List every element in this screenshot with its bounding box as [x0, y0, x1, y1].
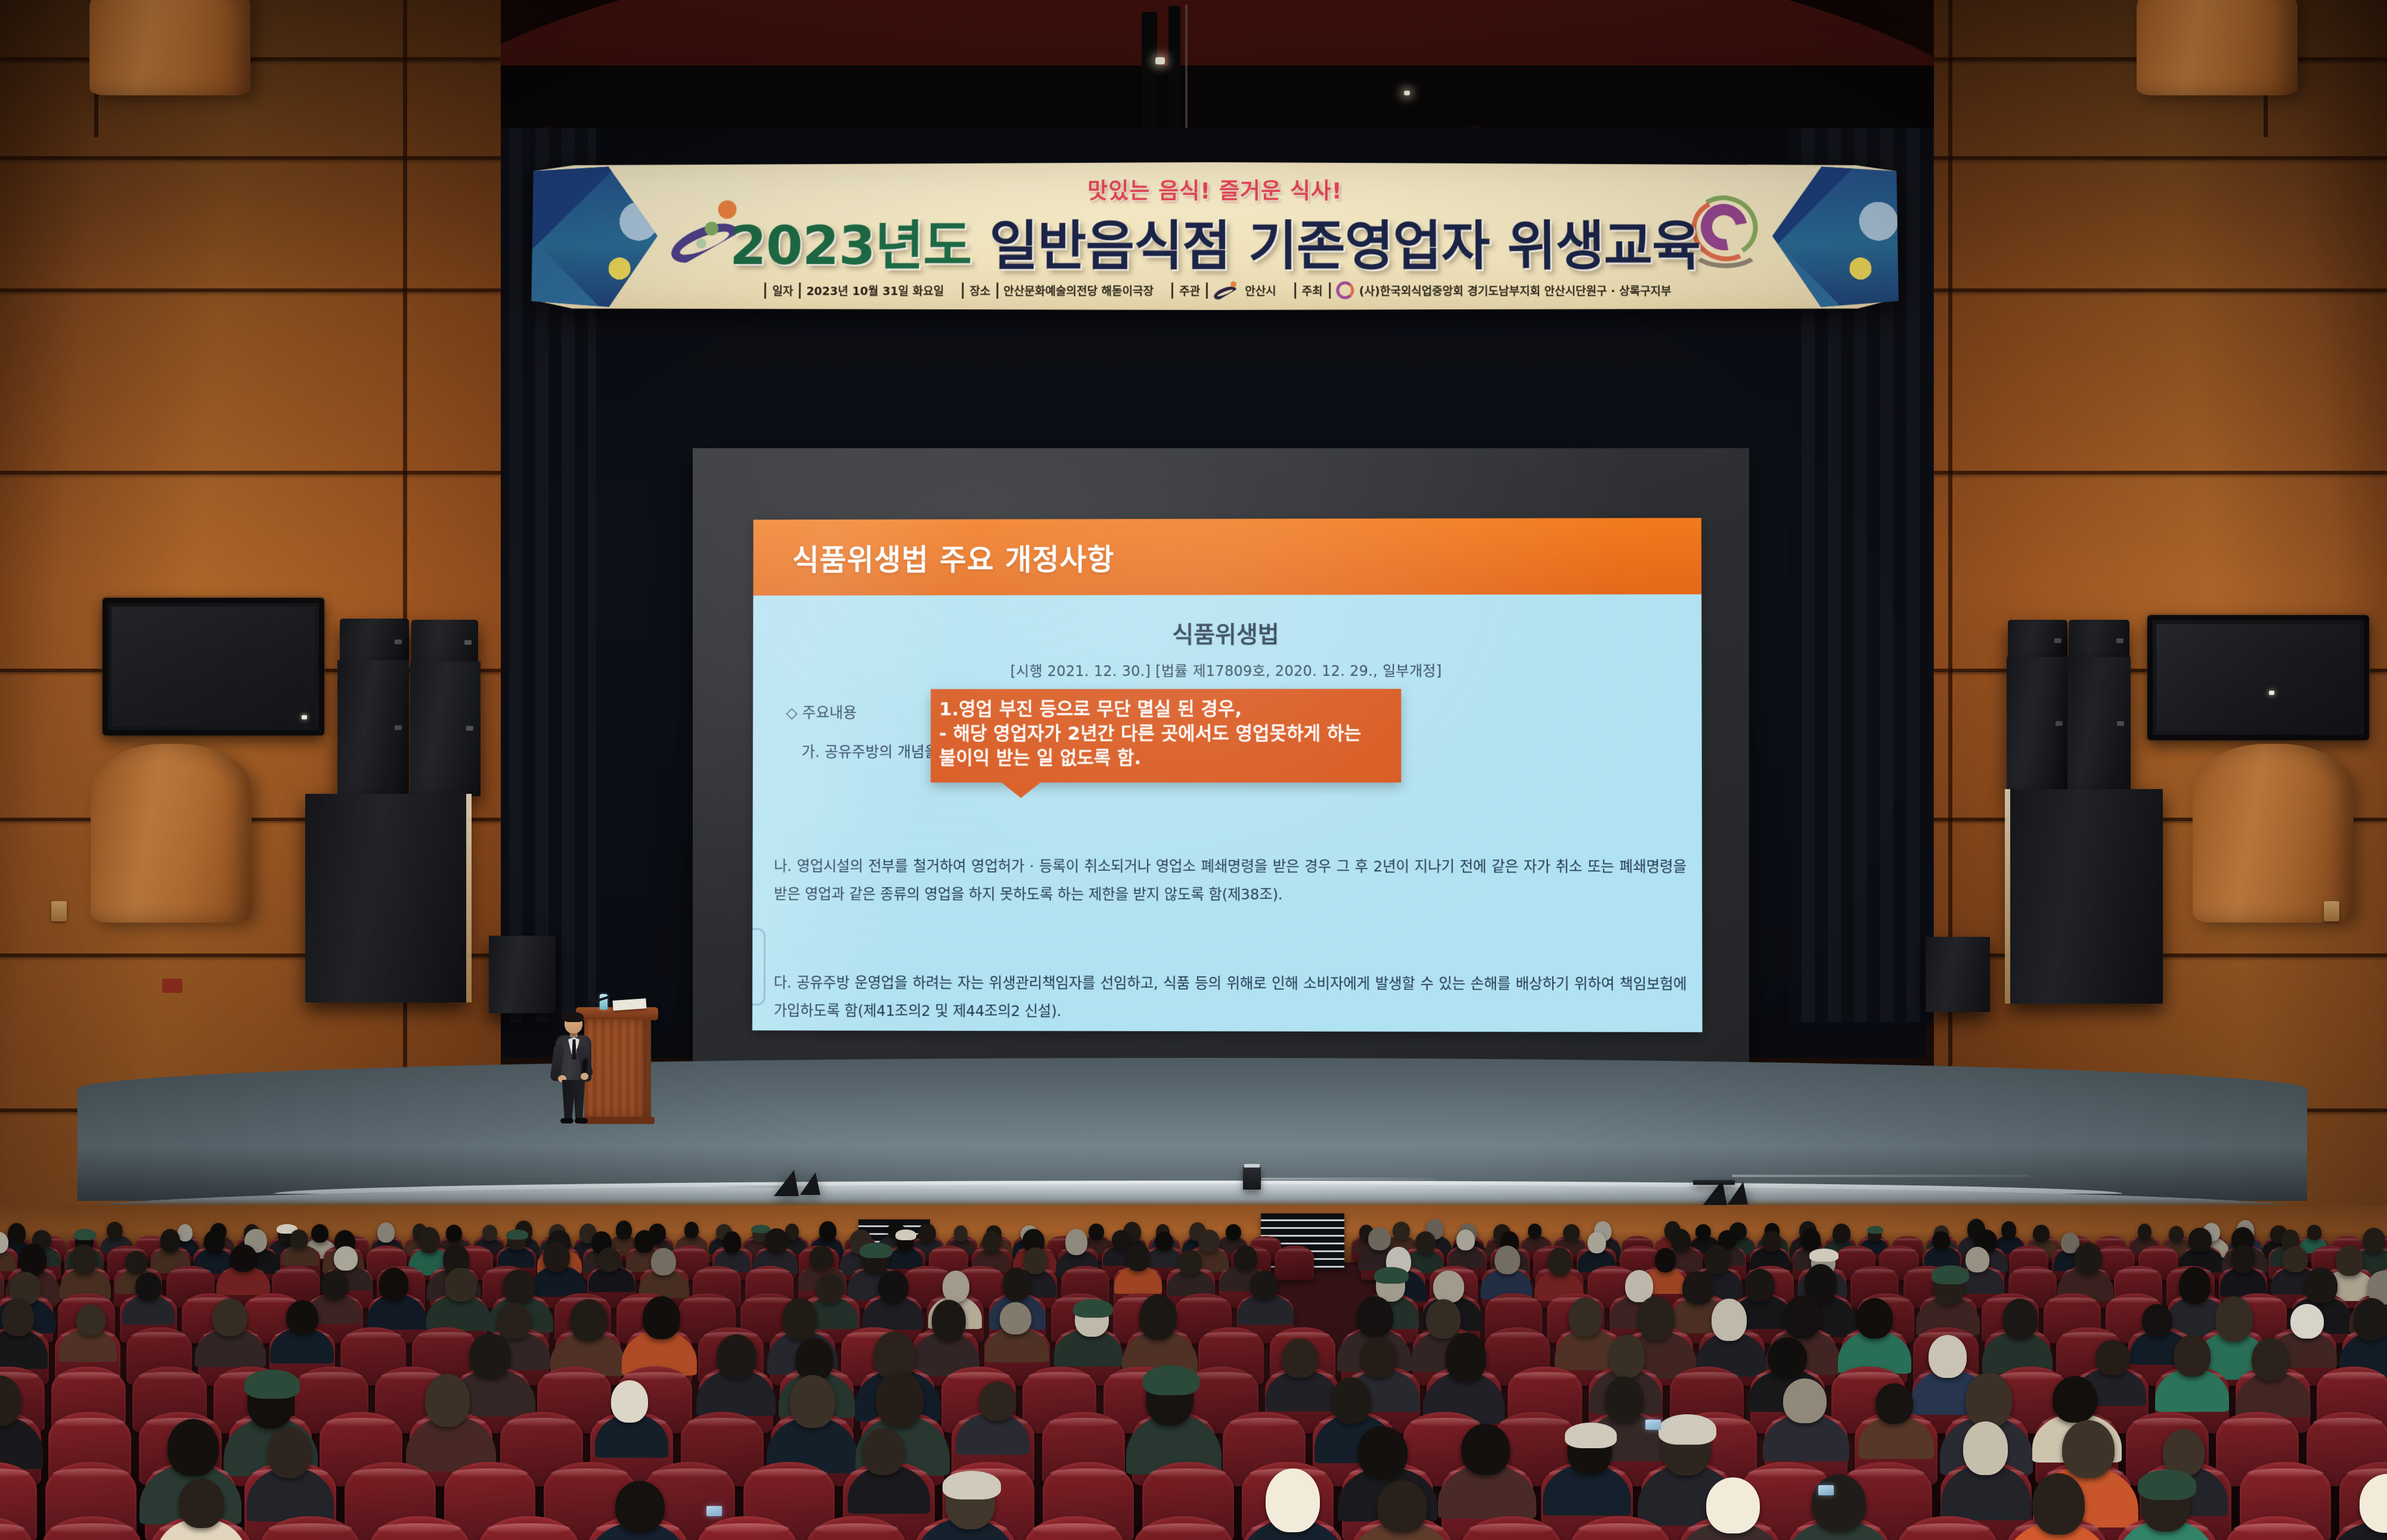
audience-member-head — [1234, 1246, 1258, 1271]
audience-member-head — [418, 1227, 440, 1253]
banner-slogan: 맛있는 음식! 즐거운 식사! — [533, 173, 1897, 205]
audience-member-head — [1331, 1377, 1371, 1424]
audience-member-head — [1360, 1337, 1397, 1377]
audience-member-head — [765, 1228, 788, 1253]
audience-member-head — [2363, 1228, 2385, 1254]
audience-member-head — [643, 1296, 680, 1339]
audience-member-cap — [943, 1471, 1001, 1499]
mini-logo-dot — [1230, 281, 1236, 287]
audience-member-head — [2336, 1246, 2363, 1275]
audience-member-head — [1266, 1468, 1319, 1532]
audience-member-head — [2305, 1268, 2337, 1303]
presentation-slide: 식품위생법 주요 개정사항 식품위생법 [시행 2021. 12. 30.] [… — [752, 518, 1703, 1032]
audience-member-head — [2095, 1340, 2130, 1376]
audience-member-head — [1768, 1337, 1807, 1377]
audience-member-head — [816, 1274, 843, 1303]
speaker-cab-right-far — [1926, 937, 1990, 1012]
audience-member-head — [2142, 1304, 2172, 1337]
stage-monitor-wedge-left-a — [774, 1170, 799, 1196]
audience-member-head — [2290, 1304, 2324, 1339]
slide-law-reference: [시행 2021. 12. 30.] [법률 제17809호, 2020. 12… — [783, 659, 1672, 680]
audience-member-head — [717, 1334, 757, 1378]
speaker-badge — [395, 725, 402, 730]
audience-member-head — [790, 1375, 835, 1428]
audience-member-head — [982, 1231, 1001, 1253]
audience-member-head — [2062, 1420, 2115, 1478]
slide-body: 식품위생법 [시행 2021. 12. 30.] [법률 제17809호, 20… — [753, 594, 1701, 680]
audience-member-head — [1250, 1271, 1278, 1300]
audience-member-head — [1393, 1222, 1410, 1240]
audience-member-head — [1568, 1297, 1602, 1337]
audience-member-head — [611, 1380, 648, 1422]
wall-outlet-left — [51, 901, 67, 921]
audience-member-head — [2307, 1225, 2321, 1240]
audience-member-head — [723, 1231, 741, 1253]
callout-line-1: 1.영업 부진 등으로 무단 멸실 된 경우, — [939, 697, 1390, 722]
audience-member-head — [1563, 1224, 1580, 1241]
audience-member-head — [1548, 1247, 1572, 1277]
audience-member-head — [1446, 1333, 1486, 1382]
audience-member-head — [782, 1298, 817, 1340]
audience-member-head — [810, 1246, 833, 1270]
left-wall-curved-panel-bottom — [91, 744, 252, 923]
speaker-cab-left-sub — [305, 794, 467, 1002]
audience-member-head — [979, 1381, 1016, 1421]
audience-member-head — [1801, 1228, 1821, 1251]
wall-mounted-display-left — [103, 598, 324, 735]
audience-member-head — [570, 1299, 607, 1341]
wall-mounted-display-right — [2147, 615, 2369, 740]
event-banner: 맛있는 음식! 즐거운 식사! 2023년도 일반음식점 기존영업자 위생교육 … — [531, 162, 1899, 310]
callout-line-2: - 해당 영업자가 2년간 다른 곳에서도 영업못하게 하는 — [939, 722, 1390, 746]
audience-phone-screen-1 — [1818, 1485, 1834, 1495]
speaker-badge — [2056, 721, 2063, 726]
banner-footer-host-value: 안산시 — [1245, 282, 1276, 299]
stage-floor-box-center — [1243, 1167, 1261, 1190]
association-mini-logo-icon — [1336, 281, 1354, 299]
audience-member-head — [107, 1222, 123, 1239]
banner-footer-venue-label: 장소 — [962, 282, 998, 299]
banner-footer-host: 주관 안산시 — [1171, 281, 1276, 299]
audience-member-head — [425, 1374, 470, 1427]
audience-member-head — [1966, 1247, 1989, 1272]
stage-monitor-wedge-right-b — [1728, 1182, 1748, 1204]
audience-member-head — [2032, 1473, 2085, 1535]
audience-member-head — [863, 1429, 904, 1474]
banner-title-rest: 일반음식점 기존영업자 위생교육 — [971, 215, 1700, 277]
audience-member-head — [2231, 1244, 2255, 1272]
audience-member-cap — [1073, 1299, 1114, 1318]
banner-footer-organizer-label: 주최 — [1294, 282, 1331, 299]
audience-member-head — [321, 1271, 349, 1300]
audience-member-head — [1089, 1224, 1103, 1240]
speaker-cab-left-mid-b — [410, 662, 480, 796]
audience-member-head — [1783, 1378, 1827, 1424]
audience-member-head — [160, 1229, 181, 1253]
banner-footer-venue: 장소 안산문화예술의전당 해돋이극장 — [962, 282, 1154, 299]
audience-member-head — [1112, 1230, 1130, 1250]
presenter-right-hand — [581, 1073, 588, 1080]
audience-member-cap — [1565, 1423, 1617, 1448]
audience-member-head — [135, 1272, 162, 1300]
audience-member-head — [1226, 1224, 1241, 1240]
audience-member-head — [1126, 1244, 1150, 1271]
audience-member-cap — [860, 1243, 892, 1258]
banner-footer-date: 일자 2023년 10월 31일 화요일 — [764, 282, 944, 299]
audience-member-head — [1000, 1302, 1032, 1335]
audience-member-head — [1875, 1383, 1914, 1424]
ceiling-spot-light-2 — [1404, 91, 1410, 95]
audience-member-head — [377, 1222, 395, 1243]
audience-member-head — [1695, 1224, 1711, 1240]
audience-member-head — [212, 1299, 248, 1336]
audience-member-head — [1528, 1224, 1542, 1238]
audience-member-head — [1833, 1224, 1850, 1244]
wall-outlet-right — [2324, 901, 2339, 921]
theater-seat — [1275, 1246, 1315, 1280]
auditorium-scene: 맛있는 음식! 즐거운 식사! 2023년도 일반음식점 기존영업자 위생교육 … — [0, 0, 2387, 1540]
ceiling-rig-bar-1 — [1142, 12, 1157, 131]
audience-member-head — [1456, 1229, 1475, 1250]
audience-member-head — [684, 1222, 699, 1238]
audience-member-head — [2179, 1267, 2211, 1305]
audience-member-head — [932, 1300, 966, 1341]
left-wall-curved-panel-top — [89, 0, 250, 95]
banner-title: 2023년도 일반음식점 기존영업자 위생교육 — [621, 203, 1809, 280]
audience-member-cap — [244, 1370, 300, 1399]
audience-member-head — [598, 1247, 621, 1272]
audience-member-head — [1357, 1426, 1408, 1478]
audience-member-cap — [1143, 1365, 1199, 1395]
presenter-left-shoe — [560, 1118, 573, 1123]
audience-member-head — [125, 1251, 148, 1274]
audience-member-head — [1745, 1269, 1775, 1302]
audience-member-head — [19, 1244, 46, 1276]
audience-member-head — [2174, 1335, 2211, 1376]
audience-member-head — [2215, 1296, 2253, 1342]
ceiling-rig-bar-2 — [1168, 6, 1180, 134]
slide-note-heading: ◇ 주요내용 — [786, 701, 938, 722]
audience-member-head — [379, 1268, 409, 1301]
presenter-with-microphone — [553, 1013, 595, 1124]
audience-member-head — [1155, 1232, 1173, 1252]
speaker-badge — [466, 726, 473, 731]
audience-member-head — [1706, 1477, 1760, 1533]
banner-footer-organizer: 주최 (사)한국외식업중앙회 경기도남부지회 안산시단원구 · 상록구지부 — [1294, 281, 1672, 299]
wall-placard-left — [162, 979, 182, 993]
audience-member-head — [71, 1244, 97, 1274]
audience-member-cap — [2138, 1470, 2196, 1500]
audience-member-head — [2138, 1224, 2152, 1240]
speaker-badge — [395, 639, 402, 644]
presenter-trousers — [561, 1080, 586, 1119]
audience-member-head — [876, 1371, 923, 1427]
audience-member-head — [2354, 1298, 2387, 1341]
slide-header-bar: 식품위생법 주요 개정사항 — [753, 518, 1701, 595]
audience-member-head — [615, 1481, 664, 1532]
banner-title-year: 2023년도 — [729, 215, 971, 277]
audience-member-head — [1377, 1480, 1427, 1532]
monitor-power-led-right — [2269, 691, 2274, 695]
audience-member-head — [2033, 1225, 2050, 1243]
speaker-cab-left-top-a — [340, 619, 409, 662]
banner-footer-venue-value: 안산문화예술의전당 해돋이극장 — [1003, 282, 1154, 299]
audience-member-head — [2188, 1228, 2211, 1252]
audience-member-cap — [1932, 1265, 1969, 1284]
audience-member-head — [290, 1229, 308, 1249]
slide-paragraph-c: 다. 공유주방 운영업을 하려는 자는 위생관리책임자를 선임하고, 식품 등의… — [774, 968, 1687, 1026]
audience-member-head — [2283, 1246, 2308, 1272]
audience-phone-screen-3 — [1645, 1420, 1661, 1430]
audience-member-head — [1856, 1298, 1893, 1339]
callout-line-3: 불이익 받는 일 없도록 함. — [939, 746, 1390, 771]
speaker-cab-right-mid-b — [2067, 657, 2131, 791]
audience-member-head — [2001, 1221, 2016, 1239]
banner-footer-date-label: 일자 — [764, 282, 801, 299]
banner-footer-organizer-value: (사)한국외식업중앙회 경기도남부지회 안산시단원구 · 상록구지부 — [1359, 282, 1672, 299]
slide-highlight-callout: 1.영업 부진 등으로 무단 멸실 된 경우, - 해당 영업자가 2년간 다른… — [931, 689, 1401, 783]
audience-member-head — [469, 1333, 511, 1378]
banner-footer-date-value: 2023년 10월 31일 화요일 — [806, 282, 944, 299]
stage-plate-right — [1693, 1180, 1735, 1185]
audience-member-cap — [1867, 1226, 1883, 1234]
audience-member-head — [1682, 1271, 1714, 1305]
stage-monitor-wedge-left-b — [800, 1172, 820, 1195]
audience-member-head — [1966, 1373, 2012, 1428]
slide-note-block: ◇ 주요내용 가. 공유주방의 개념을 — [786, 701, 938, 762]
speaker-cab-left-mid-a — [337, 660, 409, 796]
seated-audience — [0, 1205, 2387, 1540]
speaker-badge — [464, 640, 472, 645]
audience-member-head — [943, 1271, 969, 1302]
audience-member-cap — [895, 1229, 916, 1240]
audience-member-head — [1655, 1248, 1676, 1273]
audience-member-head — [445, 1268, 478, 1302]
projector-glare — [752, 518, 1703, 1032]
audience-member-head — [1704, 1245, 1729, 1274]
audience-member-head — [543, 1242, 570, 1272]
slide-header-title: 식품위생법 주요 개정사항 — [792, 536, 1114, 579]
audience-member-head — [497, 1303, 531, 1339]
audience-member-head — [1625, 1270, 1653, 1302]
audience-member-cap — [1809, 1249, 1839, 1262]
audience-member-head — [1588, 1232, 1607, 1254]
ceiling-spot-light-1 — [1155, 57, 1165, 64]
banner-footer: 일자 2023년 10월 31일 화요일 장소 안산문화예술의전당 해돋이극장 … — [627, 281, 1809, 299]
speaker-cab-right-mid-a — [2007, 657, 2069, 791]
audience-member-head — [1963, 1421, 2008, 1475]
audience-member-cap — [1658, 1414, 1716, 1445]
monitor-power-led-left — [302, 715, 307, 719]
audience-member-head — [1932, 1231, 1950, 1250]
stage-floor — [77, 1058, 2307, 1201]
audience-member-head — [286, 1300, 318, 1334]
audience-member-head — [1605, 1377, 1644, 1423]
right-wall-curved-panel-top — [2137, 0, 2298, 95]
audience-member-head — [179, 1479, 224, 1529]
slide-law-title: 식품위생법 — [783, 616, 1672, 650]
audience-member-head — [503, 1269, 535, 1303]
audience-member-cap — [1374, 1267, 1409, 1284]
audience-member-cap — [506, 1229, 528, 1240]
audience-member-head — [1282, 1339, 1318, 1378]
audience-member-head — [1495, 1246, 1520, 1274]
audience-member-head — [954, 1225, 968, 1241]
audience-member-head — [918, 1224, 935, 1243]
audience-member-head — [1671, 1229, 1691, 1252]
stage-cable-left — [715, 1185, 781, 1188]
speaker-cab-right-top-a — [2008, 620, 2067, 658]
banner-footer-host-label: 주관 — [1171, 282, 1208, 299]
audience-member-head — [2053, 1376, 2097, 1423]
speaker-cab-right-top-b — [2069, 620, 2129, 658]
audience-member-head — [2002, 1299, 2038, 1339]
stage-cable-right — [1732, 1175, 2030, 1177]
right-wall-curved-panel-bottom — [2193, 744, 2354, 923]
audience-member-head — [1065, 1229, 1088, 1255]
audience-member-head — [230, 1244, 257, 1272]
audience-member-head — [819, 1221, 836, 1241]
audience-member-head — [2, 1299, 33, 1337]
projection-screen: 식품위생법 주요 개정사항 식품위생법 [시행 2021. 12. 30.] [… — [693, 448, 1749, 1067]
audience-member-head — [1784, 1296, 1821, 1339]
audience-member-head — [1929, 1335, 1967, 1378]
audience-member-head — [2252, 1338, 2289, 1381]
ansan-city-mini-logo-icon — [1213, 281, 1239, 299]
audience-member-head — [1812, 1474, 1866, 1532]
audience-member-head — [1609, 1334, 1645, 1378]
audience-member-head — [334, 1246, 358, 1270]
audience-member-head — [2169, 1226, 2184, 1243]
audience-member-head — [446, 1225, 462, 1241]
audience-member-head — [76, 1305, 106, 1336]
audience-member-head — [1433, 1271, 1464, 1303]
slide-paragraph-b: 나. 영업시설의 전부를 철거하여 영업허가 · 등록이 취소되거나 영업소 폐… — [774, 852, 1687, 909]
audience-member-head — [1426, 1299, 1461, 1339]
speaker-cab-left-top-b — [411, 620, 478, 662]
audience-member-cap — [74, 1229, 96, 1240]
ceiling-cable — [1185, 5, 1188, 141]
audience-member-head — [1415, 1231, 1436, 1254]
audience-member-head — [482, 1225, 497, 1241]
audience-member-head — [311, 1224, 328, 1243]
audience-member-head — [1024, 1247, 1047, 1274]
audience-member-head — [878, 1271, 909, 1303]
audience-member-head — [1139, 1294, 1177, 1340]
audience-member-head — [616, 1221, 631, 1240]
audience-member-head — [634, 1230, 655, 1253]
audience-member-head — [168, 1419, 219, 1476]
audience-phone-screen-2 — [706, 1506, 722, 1516]
audience-member-head — [1179, 1250, 1202, 1275]
audience-member-head — [1461, 1424, 1510, 1475]
audience-member-head — [1762, 1231, 1781, 1252]
audience-member-head — [1357, 1296, 1394, 1337]
speaker-badge — [2117, 721, 2124, 726]
audience-member-head — [268, 1427, 311, 1478]
audience-member-head — [2074, 1243, 2102, 1274]
audience-member-head — [1198, 1229, 1220, 1253]
audience-member-head — [1638, 1296, 1675, 1341]
stage-cable-center — [1261, 1178, 1434, 1180]
speaker-badge — [2054, 638, 2061, 643]
audience-member-head — [651, 1248, 676, 1275]
audience-member-head — [204, 1230, 225, 1253]
slide-edge-mark — [752, 928, 765, 1005]
speaker-badge — [2116, 638, 2123, 643]
floor-box-cap — [1244, 1164, 1260, 1168]
audience-member-head — [1712, 1299, 1747, 1341]
speaker-cab-right-sub — [2009, 789, 2163, 1004]
speaker-cab-left-far — [489, 936, 556, 1013]
audience-member-head — [1003, 1268, 1031, 1301]
slide-note-item-a: 가. 공유주방의 개념을 — [801, 740, 938, 762]
audience-member-head — [8, 1223, 26, 1244]
presenter-right-shoe — [575, 1118, 588, 1123]
audience-member-head — [1368, 1227, 1391, 1251]
presenter-hair — [563, 1012, 584, 1022]
